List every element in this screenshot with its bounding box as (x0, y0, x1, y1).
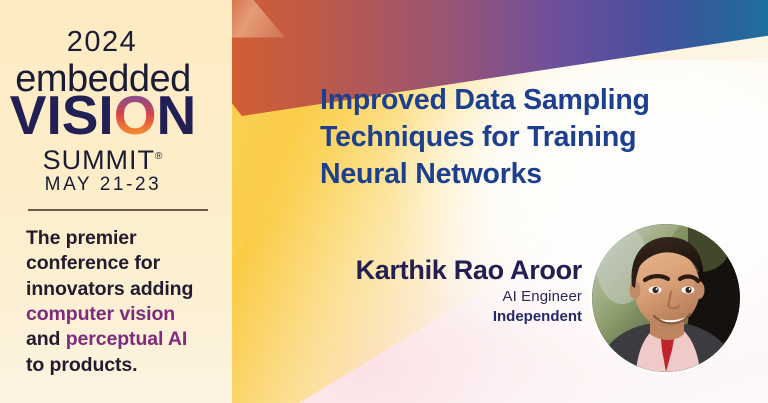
speaker-role: AI Engineer (290, 288, 582, 307)
logo-summit: SUMMIT® (0, 145, 206, 176)
tagline-line-1: The premier (26, 227, 137, 249)
tagline-highlight-computer-vision: computer vision (26, 303, 175, 325)
logo-vision-prefix: VISI (10, 84, 114, 146)
tagline-conjunction: and (26, 328, 60, 350)
tagline-line-3: innovators adding (26, 278, 193, 300)
logo-vision-gradient-o: O (114, 84, 157, 146)
talk-announcement-card: 2024 embedded VISION SUMMIT® MAY 21-23 T… (0, 0, 768, 403)
talk-title-line-3: Neural Networks (320, 158, 542, 190)
brand-panel: 2024 embedded VISION SUMMIT® MAY 21-23 T… (0, 0, 232, 403)
logo-dates: MAY 21-23 (0, 174, 206, 196)
brand-divider (28, 209, 208, 211)
logo-summit-word: SUMMIT (43, 145, 155, 175)
tagline-line-4: to products. (26, 354, 137, 376)
logo-vision: VISION (0, 88, 206, 143)
speaker-organization: Independent (290, 308, 582, 327)
talk-title-line-1: Improved Data Sampling (320, 84, 650, 116)
speaker-details: Karthik Rao Aroor AI Engineer Independen… (290, 255, 582, 327)
talk-title-line-2: Techniques for Training (320, 121, 636, 153)
tagline-line-2: conference for (26, 252, 160, 274)
talk-title: Improved Data SamplingTechniques for Tra… (320, 82, 758, 192)
registered-trademark-icon: ® (155, 151, 163, 162)
tagline-highlight-perceptual-ai: perceptual AI (66, 328, 188, 350)
conference-tagline: The premierconference forinnovators addi… (26, 226, 226, 378)
speaker-name: Karthik Rao Aroor (290, 255, 582, 285)
logo-vision-suffix: N (156, 84, 196, 146)
logo-year: 2024 (0, 26, 204, 59)
speaker-headshot-illustration (592, 224, 740, 372)
speaker-avatar (592, 224, 740, 372)
